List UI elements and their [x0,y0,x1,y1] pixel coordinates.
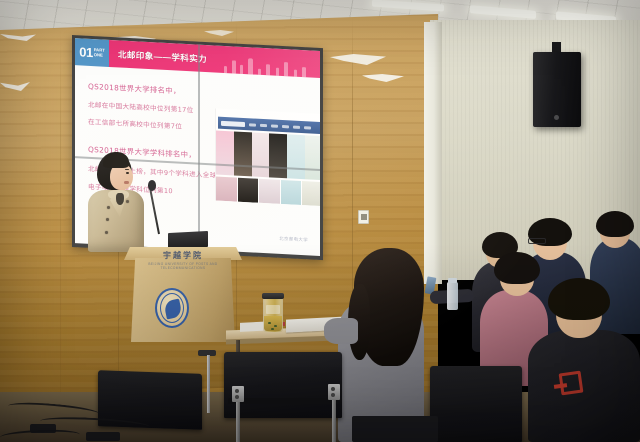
speaker-led-icon [554,115,559,120]
presenter-fringe [103,152,129,168]
chair-leg [332,400,336,442]
slide-line-1: QS2018世界大学排名中， [88,81,181,97]
tea-jar-lid [262,293,284,299]
chair-bracket [328,384,340,400]
floor-cable-cover [86,432,120,441]
presenter-eyebrow [125,169,129,170]
slide-header-title: 北邮印象——学科实力 [118,48,207,65]
wall-column [424,22,442,284]
tea-leaf [268,322,271,324]
water-bottle [447,282,458,310]
podium-venue-subtitle: BEIJING UNIVERSITY OF POSTS AND TELECOMM… [148,262,218,270]
water-bottle-cap [448,278,457,283]
podium-emblem-icon [155,288,189,328]
chair-back[interactable] [224,352,342,418]
eyeglasses-icon [528,238,546,244]
laptop-on-podium[interactable] [168,231,208,249]
podium-venue-name: 宇越学院 [152,250,214,261]
chair-strap [228,398,338,404]
wall-switch-icon[interactable] [358,210,369,224]
chair-seat[interactable] [352,416,438,442]
presenter-eye [126,172,129,174]
slide-footnote: 北京邮电大学 [279,236,308,244]
lecture-hall-photo: 01 PART ONE 北邮印象——学科实力 [0,0,640,442]
slide-line-2: 北邮在中国大陆高校中位列第17位 [88,99,194,115]
mic-stand-pole [207,355,210,413]
section-number-value: 01 [79,44,92,60]
podium-microphone-head [148,180,156,191]
slide-website-screenshot [215,108,320,206]
presenter-scarf [116,193,124,205]
chair-leg [236,402,240,442]
tea-leaf [271,328,274,330]
shoulder-arm [324,318,358,344]
website-logo-icon [221,120,245,126]
slide-line-3: 在工信部七所高校中位列第7位 [88,116,182,131]
section-label-bottom: ONE [94,52,103,57]
slide-section-number: 01 PART ONE [75,38,109,67]
chair-back[interactable] [430,366,522,442]
tea-jar-label [266,305,280,314]
video-wall-bezel-vertical [198,45,200,250]
presenter-mouth [124,181,129,184]
website-photo-row [216,131,320,181]
chair-bracket [232,386,244,402]
tea-leaf [274,325,277,327]
website-thumbnail-strip [216,177,320,207]
